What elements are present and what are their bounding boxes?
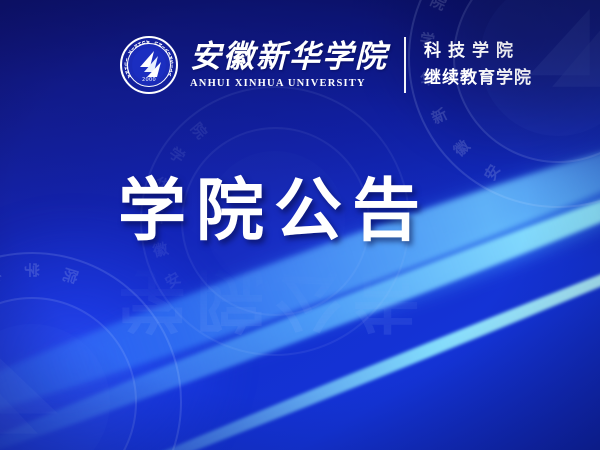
page-title: 学院公告 <box>118 176 430 248</box>
college-name-line2: 继续教育学院 <box>424 65 532 92</box>
college-name-block: 科技学院 继续教育学院 <box>424 38 532 92</box>
emblem-arc-text: ANHUIXINHUAUNIVERSITY <box>120 36 178 94</box>
logo-divider <box>404 37 406 93</box>
logo-lockup: ANHUIXINHUAUNIVERSITY 2000 安徽新华学院 ANHUI … <box>120 28 532 102</box>
university-name-en: ANHUI XINHUA UNIVERSITY <box>190 77 388 90</box>
university-name-cn: 安徽新华学院 <box>190 40 388 74</box>
watermark-seal-bottom-left: 学院科技学院 <box>0 252 182 450</box>
university-emblem-icon: ANHUIXINHUAUNIVERSITY 2000 <box>120 36 178 94</box>
announcement-banner: 安徽新华学院 安徽新华学院 学院科技学院 学院公告 学院公告 <box>0 0 600 450</box>
university-name-block: 安徽新华学院 ANHUI XINHUA UNIVERSITY <box>190 40 388 90</box>
seal-bottom-left-arc-text: 学院科技学院 <box>0 252 182 450</box>
college-name-line1: 科技学院 <box>424 38 532 65</box>
emblem-year: 2000 <box>120 77 178 83</box>
